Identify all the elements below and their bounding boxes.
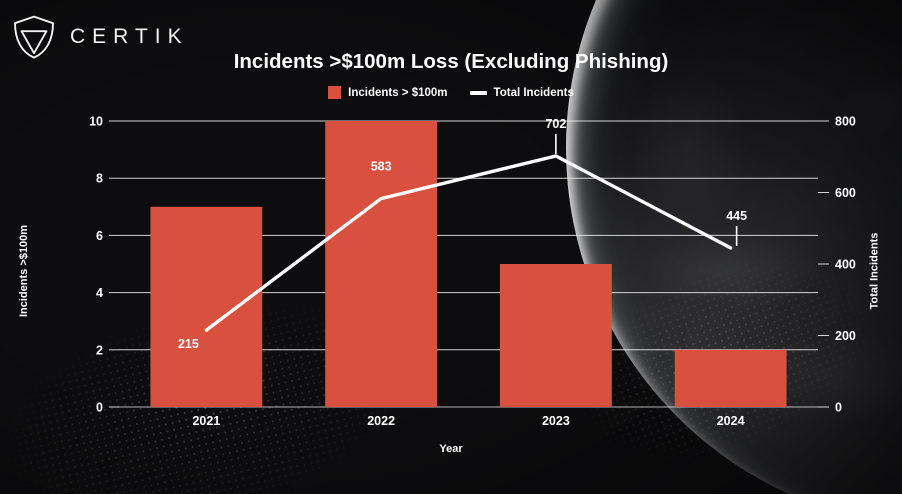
y-axis-left-tick-label: 2 xyxy=(96,343,103,357)
y-axis-right-tick-label: 800 xyxy=(835,115,856,129)
y-axis-right-tick-label: 600 xyxy=(835,186,856,200)
y-axis-left-tick-label: 6 xyxy=(96,229,103,243)
bar-2024[interactable] xyxy=(675,350,787,407)
slide-canvas: CERTIK Incidents >$100m Loss (Excluding … xyxy=(0,0,902,494)
y-axis-left-tick-label: 8 xyxy=(96,172,103,186)
total-incidents-line[interactable] xyxy=(206,156,730,330)
point-label-2021: 215 xyxy=(178,337,199,351)
point-label-2023: 702 xyxy=(545,117,566,131)
chart-plot-area: 0246810 0200400600800 215583702445 20212… xyxy=(0,0,902,494)
x-axis-tick-label-2022: 2022 xyxy=(367,414,395,428)
y-axis-right-tick-label: 400 xyxy=(835,258,856,272)
line-point-labels: 215583702445 xyxy=(178,117,747,351)
y-axis-right-tick-label: 0 xyxy=(835,401,842,415)
bar-2023[interactable] xyxy=(500,264,612,407)
y-axis-left-tick-label: 0 xyxy=(96,401,103,415)
x-axis-title: Year xyxy=(0,443,902,455)
x-axis-tick-labels: 2021202220232024 xyxy=(192,414,744,428)
point-label-2022: 583 xyxy=(371,160,392,174)
x-axis-tick-label-2023: 2023 xyxy=(542,414,570,428)
bar-2021[interactable] xyxy=(150,207,262,407)
y-axis-right-tick-label: 200 xyxy=(835,329,856,343)
line-series xyxy=(206,156,730,330)
y-axis-right-tick-labels: 0200400600800 xyxy=(835,115,856,415)
x-axis-tick-label-2021: 2021 xyxy=(192,414,220,428)
y-axis-left-tick-label: 10 xyxy=(89,115,103,129)
y-axis-left-tick-label: 4 xyxy=(96,286,103,300)
x-axis-tick-label-2024: 2024 xyxy=(717,414,745,428)
y-axis-left-title: Incidents >$100m xyxy=(18,225,30,317)
point-label-2024: 445 xyxy=(726,209,747,223)
y-axis-left-tick-labels: 0246810 xyxy=(89,115,103,415)
y-axis-right-title: Total Incidents xyxy=(868,233,880,310)
bar-series xyxy=(150,121,786,407)
